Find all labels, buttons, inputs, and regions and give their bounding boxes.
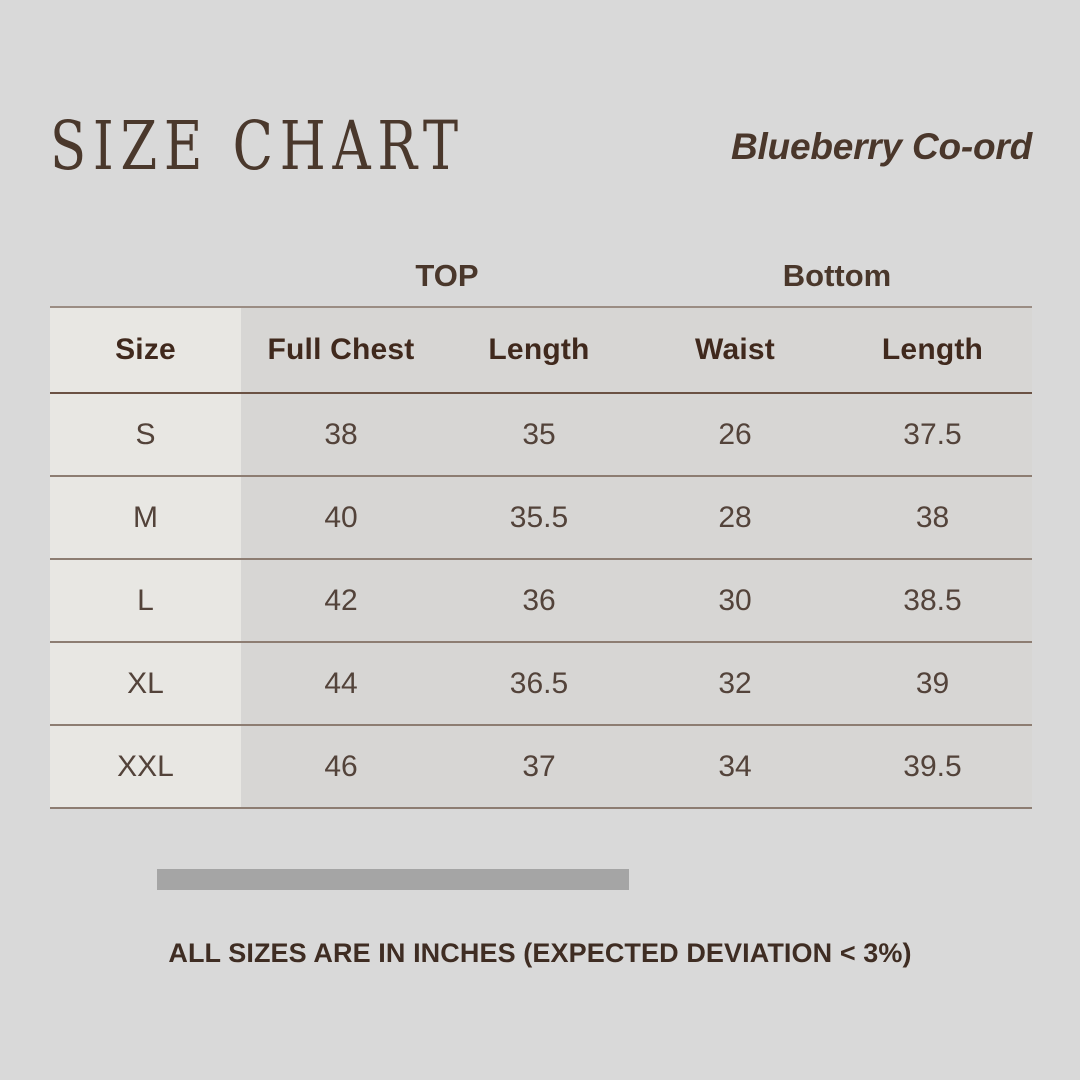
column-header-bottom-length: Length [833,307,1032,393]
cell-size: M [50,476,241,559]
cell-top-length: 37 [441,725,637,808]
page-header: SIZE CHART Blueberry Co-ord [50,104,1032,188]
cell-full-chest: 44 [241,642,441,725]
table-row: XL 44 36.5 32 39 [50,642,1032,725]
column-group-headers: TOP Bottom [50,250,1032,302]
cell-bottom-length: 39 [833,642,1032,725]
cell-bottom-length: 39.5 [833,725,1032,808]
cell-full-chest: 46 [241,725,441,808]
table-row: M 40 35.5 28 38 [50,476,1032,559]
page-title: SIZE CHART [50,112,465,179]
column-header-waist: Waist [637,307,833,393]
cell-waist: 30 [637,559,833,642]
table-row: S 38 35 26 37.5 [50,393,1032,476]
cell-size: XL [50,642,241,725]
cell-bottom-length: 37.5 [833,393,1032,476]
cell-size: S [50,393,241,476]
table-header-row: Size Full Chest Length Waist Length [50,307,1032,393]
cell-size: L [50,559,241,642]
cell-top-length: 36.5 [441,642,637,725]
column-header-top-length: Length [441,307,637,393]
cell-top-length: 36 [441,559,637,642]
cell-waist: 28 [637,476,833,559]
cell-full-chest: 38 [241,393,441,476]
cell-full-chest: 40 [241,476,441,559]
cell-size: XXL [50,725,241,808]
cell-top-length: 35.5 [441,476,637,559]
column-header-full-chest: Full Chest [241,307,441,393]
cell-waist: 26 [637,393,833,476]
cell-bottom-length: 38 [833,476,1032,559]
cell-waist: 32 [637,642,833,725]
cell-waist: 34 [637,725,833,808]
accent-bar [157,869,629,890]
cell-full-chest: 42 [241,559,441,642]
group-header-bottom: Bottom [783,250,891,302]
group-header-top: TOP [415,250,478,302]
table-row: XXL 46 37 34 39.5 [50,725,1032,808]
size-table-container: Size Full Chest Length Waist Length S 38… [50,306,1032,809]
cell-bottom-length: 38.5 [833,559,1032,642]
table-row: L 42 36 30 38.5 [50,559,1032,642]
size-chart-page: SIZE CHART Blueberry Co-ord TOP Bottom S… [0,0,1080,1080]
column-header-size: Size [50,307,241,393]
brand-name: Blueberry Co-ord [731,128,1032,165]
size-table: Size Full Chest Length Waist Length S 38… [50,306,1032,809]
footer-note: ALL SIZES ARE IN INCHES (EXPECTED DEVIAT… [0,938,1080,969]
cell-top-length: 35 [441,393,637,476]
